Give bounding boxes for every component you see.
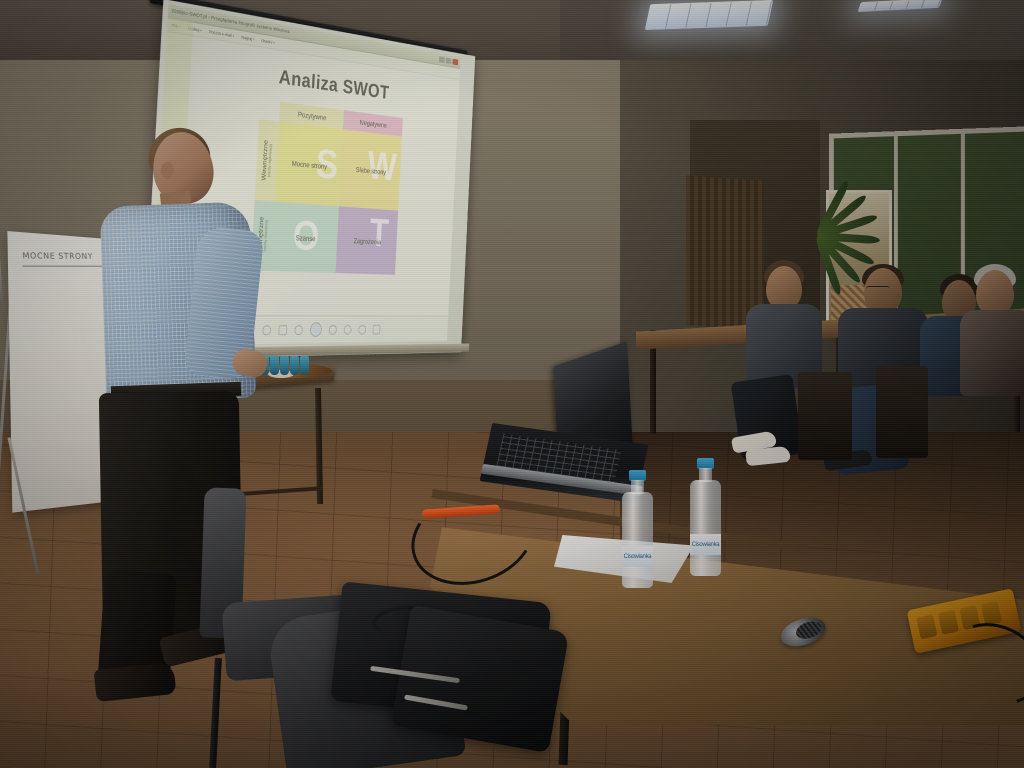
swot-label-weaknesses: Słabe strony (356, 165, 387, 176)
swot-label-strengths: Mocne strony (292, 159, 328, 170)
chair-back[interactable] (798, 372, 852, 460)
next-image-icon[interactable] (328, 325, 336, 335)
training-room-photo: 2008pic-SWOT.pl - Przeglądarka fotografi… (0, 0, 1024, 768)
rotate-right-icon[interactable] (358, 324, 366, 334)
menu-item-otworz[interactable]: Otwórz (261, 38, 275, 45)
power-socket[interactable] (938, 610, 959, 635)
bottle-label: Cisowianka (690, 534, 721, 555)
ceiling-light-fixture (645, 0, 774, 30)
flipchart-leg (0, 242, 3, 302)
slide-title: Analiza SWOT (278, 65, 390, 104)
play-slideshow-icon[interactable] (309, 322, 321, 336)
cup (290, 356, 299, 375)
rotate-left-icon[interactable] (343, 325, 351, 335)
swot-cell-weaknesses: W Słabe strony (339, 129, 402, 210)
swot-label-threats: Zagrożenia (353, 237, 381, 246)
light-diffuser-grid (646, 1, 772, 29)
swot-letter-w: W (367, 145, 398, 187)
matrix-corner-blank (259, 99, 280, 122)
power-socket[interactable] (916, 614, 937, 639)
maximize-icon[interactable] (446, 57, 452, 64)
chair-back[interactable] (876, 366, 928, 458)
flipchart-handwriting: MOCNE STRONY (22, 251, 106, 261)
bottle-brand-text: Cisowianka (692, 542, 720, 548)
swot-letter-t: T (369, 212, 390, 252)
chair-leg (209, 658, 222, 768)
window-controls[interactable] (439, 56, 458, 65)
bottle-body (690, 480, 721, 576)
bottle-body (622, 492, 653, 588)
bottle-brand-text: Cisowianka (624, 554, 652, 560)
presenter-shoe (94, 662, 177, 702)
swot-cell-threats: T Zagrożenia (335, 206, 398, 275)
close-icon[interactable] (452, 58, 458, 65)
water-bottle[interactable]: Cisowianka (620, 470, 654, 588)
flipchart-underline (23, 266, 104, 267)
audience-member (962, 266, 1024, 466)
water-bottle[interactable]: Cisowianka (688, 458, 722, 576)
cup (300, 356, 309, 375)
presenter-ear (161, 162, 174, 179)
delete-icon[interactable] (372, 324, 380, 333)
bottle-label: Cisowianka (622, 546, 653, 567)
menu-item-nagraj[interactable]: Nagraj (241, 35, 254, 42)
swot-label-opportunities: Szanse (296, 233, 316, 242)
previous-image-icon[interactable] (294, 325, 303, 335)
minimize-icon[interactable] (439, 56, 445, 63)
swot-cell-strengths: S Mocne strony (275, 122, 343, 207)
